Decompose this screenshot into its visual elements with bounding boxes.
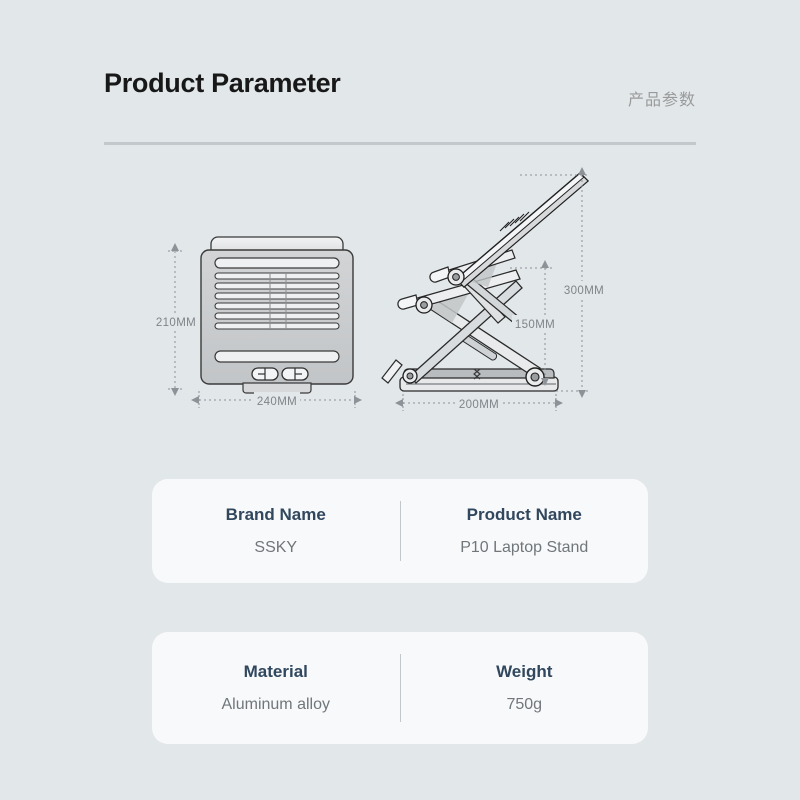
header-divider — [104, 142, 696, 145]
spec-label-brand-name: Brand Name — [226, 505, 326, 525]
side-view-mid-height-label: 150MM — [515, 319, 555, 331]
front-view-width-dimension: 240MM — [199, 391, 355, 408]
front-view-height-label: 210MM — [156, 317, 196, 329]
spec-value-material: Aluminum alloy — [222, 696, 330, 714]
front-view-height-dimension: 210MM — [155, 251, 197, 389]
spec-cell-product-name: Product Name P10 Laptop Stand — [401, 479, 649, 583]
side-view-max-height-label: 300MM — [564, 285, 604, 297]
spec-cell-material: Material Aluminum alloy — [152, 632, 400, 744]
page-title: Product Parameter — [104, 68, 341, 99]
product-dimension-diagram: 210MM 240MM — [0, 155, 800, 440]
front-view-width-label: 240MM — [257, 396, 297, 408]
side-view-drawing — [382, 173, 588, 391]
front-view-drawing — [201, 237, 353, 393]
spec-cell-weight: Weight 750g — [401, 632, 649, 744]
spec-label-weight: Weight — [496, 662, 552, 682]
page-subtitle-chinese: 产品参数 — [628, 86, 696, 110]
spec-label-product-name: Product Name — [467, 505, 582, 525]
page-header: Product Parameter 产品参数 — [104, 68, 696, 146]
side-view-max-height-dimension: 300MM — [520, 175, 608, 391]
spec-value-weight: 750g — [506, 696, 542, 714]
spec-value-product-name: P10 Laptop Stand — [460, 539, 588, 557]
spec-card-brand-product: Brand Name SSKY Product Name P10 Laptop … — [152, 479, 648, 583]
side-view-depth-dimension: 200MM — [403, 394, 556, 411]
side-view-depth-label: 200MM — [459, 399, 499, 411]
spec-value-brand-name: SSKY — [254, 539, 297, 557]
spec-card-material-weight: Material Aluminum alloy Weight 750g — [152, 632, 648, 744]
spec-label-material: Material — [244, 662, 308, 682]
spec-cell-brand-name: Brand Name SSKY — [152, 479, 400, 583]
